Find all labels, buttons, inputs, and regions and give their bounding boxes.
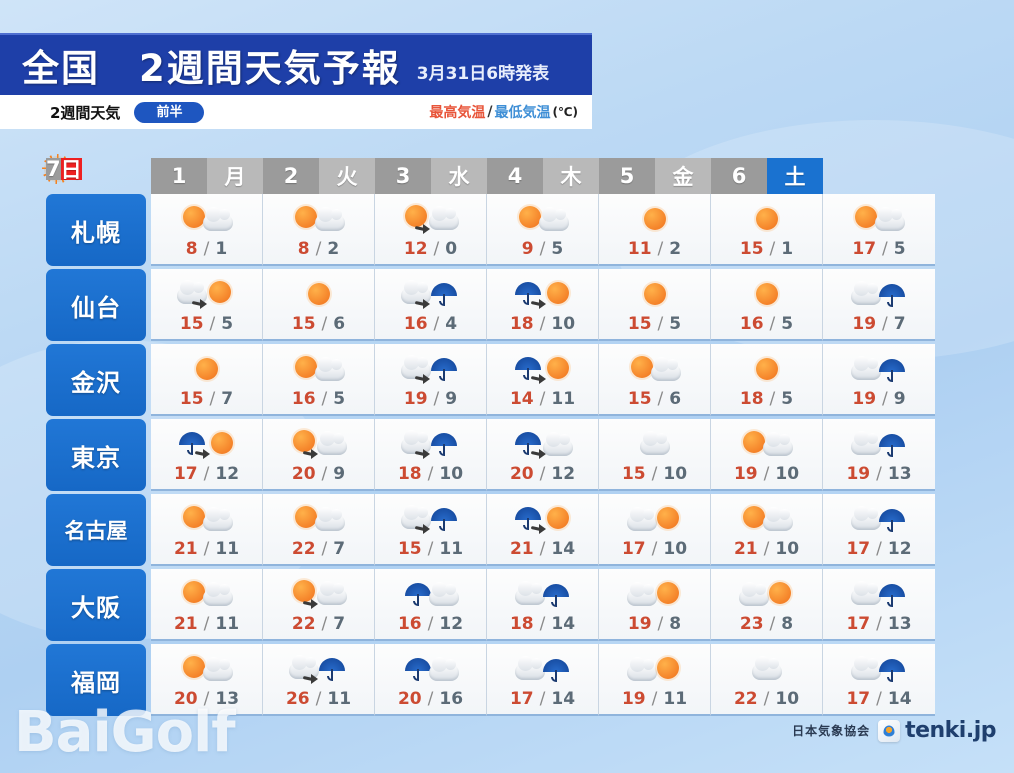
max-temp: 16 <box>404 314 428 334</box>
day-header-cell[interactable]: 5金 <box>599 158 711 194</box>
max-temp: 15 <box>628 314 652 334</box>
temp-separator: / <box>876 614 882 634</box>
max-temp: 16 <box>398 614 422 634</box>
rain-then-sun-icon <box>513 275 573 313</box>
temp-separator: / <box>204 539 210 559</box>
day-of-week: 月 <box>207 158 263 194</box>
day-header-cell[interactable]: 1月 <box>151 158 263 194</box>
rain-then-sun-icon <box>513 350 573 388</box>
weather-icon-area <box>513 574 573 614</box>
max-temp: 19 <box>852 389 876 409</box>
min-temp: 2 <box>669 239 681 259</box>
day-of-week: 火 <box>319 158 375 194</box>
weather-icon-area <box>513 274 573 314</box>
forecast-cell[interactable]: 12/0 <box>375 194 487 266</box>
temperature-pair: 18/5 <box>740 389 793 409</box>
weather-icon-area <box>401 199 461 239</box>
cloud-sun-icon <box>625 500 685 538</box>
forecast-cell[interactable]: 23/8 <box>711 569 823 641</box>
temperature-pair: 20/16 <box>398 689 463 709</box>
sun-icon <box>737 200 797 238</box>
sun-cloud-icon <box>625 350 685 388</box>
day-of-week: 水 <box>431 158 487 194</box>
temp-separator: / <box>428 539 434 559</box>
city-label-1[interactable]: 仙台 <box>46 269 146 341</box>
forecast-cell[interactable]: 20/9 <box>263 419 375 491</box>
max-temp: 15 <box>180 314 204 334</box>
max-temp: 11 <box>628 239 652 259</box>
sun-cloud-icon <box>177 500 237 538</box>
sun-icon <box>737 350 797 388</box>
temperature-pair: 15/1 <box>740 239 793 259</box>
weather-icon-area <box>289 499 349 539</box>
sun-icon <box>625 200 685 238</box>
temp-separator: / <box>428 464 434 484</box>
legend-separator: / <box>487 104 492 120</box>
temperature-pair: 16/4 <box>404 314 457 334</box>
temperature-pair: 16/12 <box>398 614 463 634</box>
temperature-pair: 23/8 <box>740 614 793 634</box>
day-header-cell[interactable]: 4木 <box>487 158 599 194</box>
day-header-cell[interactable]: 2火 <box>263 158 375 194</box>
min-temp: 14 <box>551 614 575 634</box>
temp-separator: / <box>434 389 440 409</box>
temp-separator: / <box>322 314 328 334</box>
temp-separator: / <box>322 614 328 634</box>
max-temp: 15 <box>398 539 422 559</box>
sun-then-cloud-icon <box>289 425 349 463</box>
cloud-rain-icon <box>849 275 909 313</box>
min-temp: 7 <box>221 389 233 409</box>
day-header-row: 1月2火3水4木5金6土7日 <box>46 158 979 194</box>
max-temp: 21 <box>174 539 198 559</box>
day-of-week: 木 <box>543 158 599 194</box>
forecast-cell[interactable]: 17/14 <box>823 644 935 716</box>
sun-cloud-icon <box>177 650 237 688</box>
forecast-cell[interactable]: 15/5 <box>599 269 711 341</box>
min-temp: 5 <box>221 314 233 334</box>
tenki-logo[interactable]: tenki.jp <box>878 718 996 743</box>
forecast-cell[interactable]: 9/5 <box>487 194 599 266</box>
temp-separator: / <box>322 539 328 559</box>
forecast-cell[interactable]: 17/14 <box>487 644 599 716</box>
min-temp: 14 <box>888 689 912 709</box>
forecast-cell[interactable]: 15/10 <box>599 419 711 491</box>
forecast-cell[interactable]: 20/16 <box>375 644 487 716</box>
max-temp: 19 <box>734 464 758 484</box>
min-temp: 8 <box>781 614 793 634</box>
temperature-pair: 8/1 <box>186 239 227 259</box>
max-temp: 19 <box>852 314 876 334</box>
weather-icon-area <box>737 649 797 689</box>
min-temp: 14 <box>551 539 575 559</box>
forecast-cell[interactable]: 19/9 <box>375 344 487 416</box>
weather-icon-area <box>177 274 237 314</box>
min-temp: 0 <box>445 239 457 259</box>
city-label-5[interactable]: 大阪 <box>46 569 146 641</box>
max-temp: 17 <box>846 614 870 634</box>
city-label-4[interactable]: 名古屋 <box>46 494 146 566</box>
weather-icon-area <box>289 574 349 614</box>
min-temp: 7 <box>894 314 906 334</box>
day-number: 7 <box>46 158 61 180</box>
sun-cloud-icon <box>289 200 349 238</box>
temperature-pair: 15/10 <box>622 464 687 484</box>
cloud-rain-icon <box>849 650 909 688</box>
cloud-then-rain-icon <box>401 350 461 388</box>
min-temp: 2 <box>327 239 339 259</box>
sun-then-cloud-icon <box>289 575 349 613</box>
temp-separator: / <box>652 689 658 709</box>
max-temp: 17 <box>174 464 198 484</box>
sun-icon <box>737 275 797 313</box>
max-temp: 21 <box>734 539 758 559</box>
forecast-rows: 札幌8/18/212/09/511/215/117/5仙台15/515/616/… <box>46 194 979 716</box>
forecast-cell[interactable]: 14/11 <box>487 344 599 416</box>
forecast-cell[interactable]: 18/10 <box>375 419 487 491</box>
max-temp: 15 <box>180 389 204 409</box>
city-label-3[interactable]: 東京 <box>46 419 146 491</box>
max-temp: 12 <box>404 239 428 259</box>
temp-separator: / <box>540 389 546 409</box>
forecast-cell[interactable]: 21/14 <box>487 494 599 566</box>
temp-separator: / <box>540 464 546 484</box>
min-temp: 6 <box>669 389 681 409</box>
min-temp: 8 <box>669 614 681 634</box>
forecast-cell[interactable]: 22/7 <box>263 569 375 641</box>
max-temp: 8 <box>298 239 310 259</box>
forecast-cell[interactable]: 15/6 <box>599 344 711 416</box>
temperature-pair: 26/11 <box>286 689 351 709</box>
temp-separator: / <box>210 389 216 409</box>
temperature-pair: 9/5 <box>522 239 563 259</box>
watermark: BaiGolf <box>14 700 235 765</box>
max-temp: 19 <box>622 689 646 709</box>
temperature-pair: 19/7 <box>852 314 905 334</box>
min-temp: 7 <box>333 539 345 559</box>
day-number: 6 <box>711 158 767 194</box>
min-temp: 7 <box>333 614 345 634</box>
min-temp: 12 <box>888 539 912 559</box>
temperature-pair: 19/8 <box>628 614 681 634</box>
min-temp: 10 <box>775 539 799 559</box>
forecast-cell[interactable]: 15/1 <box>711 194 823 266</box>
temperature-pair: 18/14 <box>510 614 575 634</box>
weather-icon-area <box>401 574 461 614</box>
forecast-cell[interactable]: 19/9 <box>823 344 935 416</box>
weather-icon-area <box>737 499 797 539</box>
max-temp: 14 <box>510 389 534 409</box>
forecast-cell[interactable]: 17/13 <box>823 569 935 641</box>
forecast-cell[interactable]: 17/12 <box>823 494 935 566</box>
forecast-cell[interactable]: 16/5 <box>263 344 375 416</box>
temp-separator: / <box>204 239 210 259</box>
min-temp: 1 <box>781 239 793 259</box>
min-temp: 11 <box>551 389 575 409</box>
forecast-cell[interactable]: 16/4 <box>375 269 487 341</box>
temp-separator: / <box>764 689 770 709</box>
temperature-legend: 最高気温 / 最低気温 (℃) <box>429 102 578 122</box>
forecast-cell[interactable]: 26/11 <box>263 644 375 716</box>
forecast-cell[interactable]: 19/10 <box>711 419 823 491</box>
temperature-pair: 15/7 <box>180 389 233 409</box>
weather-icon-area <box>849 349 909 389</box>
weather-icon-area <box>289 199 349 239</box>
title-bar: 全国 2週間天気予報 3月31日6時発表 <box>0 33 592 95</box>
announcement-time: 3月31日6時発表 <box>417 47 549 84</box>
max-temp: 15 <box>740 239 764 259</box>
max-temp: 16 <box>740 314 764 334</box>
temperature-pair: 17/14 <box>846 689 911 709</box>
temp-separator: / <box>764 464 770 484</box>
temp-separator: / <box>658 239 664 259</box>
rain-then-sun-icon <box>513 500 573 538</box>
temperature-pair: 20/12 <box>510 464 575 484</box>
weather-icon-area <box>625 274 685 314</box>
rain-cloud-icon <box>401 650 461 688</box>
min-temp: 6 <box>333 314 345 334</box>
max-temp: 20 <box>510 464 534 484</box>
temp-separator: / <box>316 239 322 259</box>
temperature-pair: 19/13 <box>846 464 911 484</box>
half-period-tab[interactable]: 前半 <box>134 102 204 123</box>
temp-separator: / <box>652 464 658 484</box>
max-temp: 22 <box>292 539 316 559</box>
temp-separator: / <box>652 539 658 559</box>
legend-unit: (℃) <box>553 105 579 119</box>
temperature-pair: 17/12 <box>846 539 911 559</box>
forecast-cell[interactable]: 11/2 <box>599 194 711 266</box>
temperature-pair: 15/6 <box>628 389 681 409</box>
legend-low-label: 最低気温 <box>495 102 551 122</box>
sun-cloud-icon <box>737 500 797 538</box>
cloud-then-sun-icon <box>177 275 237 313</box>
min-temp: 10 <box>551 314 575 334</box>
forecast-row: 札幌8/18/212/09/511/215/117/5 <box>46 194 979 266</box>
weather-icon-area <box>625 574 685 614</box>
weather-icon-area <box>625 649 685 689</box>
temp-separator: / <box>428 614 434 634</box>
temp-separator: / <box>770 389 776 409</box>
min-temp: 11 <box>215 539 239 559</box>
weather-icon-area <box>401 349 461 389</box>
association-label: 日本気象協会 <box>792 722 870 739</box>
forecast-cell[interactable]: 19/7 <box>823 269 935 341</box>
forecast-cell[interactable]: 15/11 <box>375 494 487 566</box>
max-temp: 18 <box>740 389 764 409</box>
min-temp: 10 <box>663 539 687 559</box>
min-temp: 12 <box>551 464 575 484</box>
city-label-2[interactable]: 金沢 <box>46 344 146 416</box>
max-temp: 17 <box>622 539 646 559</box>
sun-cloud-icon <box>177 575 237 613</box>
cloud-sun-icon <box>737 575 797 613</box>
temp-separator: / <box>876 539 882 559</box>
weather-icon-area <box>177 499 237 539</box>
weather-icon-area <box>177 649 237 689</box>
weather-icon-area <box>513 199 573 239</box>
weather-icon-area <box>401 274 461 314</box>
cloud-then-rain-icon <box>401 275 461 313</box>
max-temp: 21 <box>174 614 198 634</box>
forecast-cell[interactable]: 22/7 <box>263 494 375 566</box>
min-temp: 9 <box>445 389 457 409</box>
footer: 日本気象協会 tenki.jp <box>792 718 996 743</box>
cloud-sun-icon <box>625 650 685 688</box>
temp-separator: / <box>540 239 546 259</box>
min-temp: 11 <box>663 689 687 709</box>
rain-cloud-icon <box>401 575 461 613</box>
cloud-rain-icon <box>849 350 909 388</box>
temperature-pair: 17/13 <box>846 614 911 634</box>
day-of-week: 日 <box>61 158 82 180</box>
forecast-cell[interactable]: 21/11 <box>151 569 263 641</box>
max-temp: 19 <box>404 389 428 409</box>
weather-icon-area <box>737 349 797 389</box>
max-temp: 17 <box>510 689 534 709</box>
weather-icon-area <box>625 499 685 539</box>
forecast-cell[interactable]: 15/6 <box>263 269 375 341</box>
forecast-row: 仙台15/515/616/418/1015/516/519/7 <box>46 269 979 341</box>
min-temp: 1 <box>215 239 227 259</box>
weather-icon-area <box>849 499 909 539</box>
day-header-cell[interactable]: 3水 <box>375 158 487 194</box>
min-temp: 5 <box>894 239 906 259</box>
temperature-pair: 15/5 <box>628 314 681 334</box>
max-temp: 17 <box>846 689 870 709</box>
weather-icon-area <box>737 199 797 239</box>
weather-icon-area <box>289 424 349 464</box>
max-temp: 15 <box>622 464 646 484</box>
temperature-pair: 22/7 <box>292 614 345 634</box>
day-of-week: 土 <box>767 158 823 194</box>
forecast-cell[interactable]: 15/7 <box>151 344 263 416</box>
temperature-pair: 15/5 <box>180 314 233 334</box>
temperature-pair: 17/5 <box>852 239 905 259</box>
temperature-pair: 18/10 <box>398 464 463 484</box>
temp-separator: / <box>540 314 546 334</box>
day-header-cell[interactable]: 6土 <box>711 158 823 194</box>
temperature-pair: 16/5 <box>292 389 345 409</box>
forecast-cell[interactable]: 18/10 <box>487 269 599 341</box>
temp-separator: / <box>322 464 328 484</box>
forecast-cell[interactable]: 8/1 <box>151 194 263 266</box>
weather-icon-area <box>289 274 349 314</box>
forecast-cell[interactable]: 17/10 <box>599 494 711 566</box>
cloud-icon <box>625 425 685 463</box>
day-number: 4 <box>487 158 543 194</box>
temperature-pair: 21/14 <box>510 539 575 559</box>
temp-separator: / <box>204 614 210 634</box>
day-number: 5 <box>599 158 655 194</box>
temp-separator: / <box>770 239 776 259</box>
forecast-cell[interactable]: 20/12 <box>487 419 599 491</box>
min-temp: 10 <box>775 689 799 709</box>
forecast-cell[interactable]: 21/11 <box>151 494 263 566</box>
weather-icon-area <box>177 349 237 389</box>
temp-separator: / <box>316 689 322 709</box>
forecast-cell[interactable]: 18/14 <box>487 569 599 641</box>
cloud-then-rain-icon <box>401 425 461 463</box>
min-temp: 11 <box>439 539 463 559</box>
temp-separator: / <box>434 314 440 334</box>
cloud-then-rain-icon <box>289 650 349 688</box>
forecast-cell[interactable]: 16/5 <box>711 269 823 341</box>
cloud-rain-icon <box>513 650 573 688</box>
temperature-pair: 14/11 <box>510 389 575 409</box>
max-temp: 15 <box>292 314 316 334</box>
forecast-cell[interactable]: 19/13 <box>823 419 935 491</box>
weather-icon-area <box>177 574 237 614</box>
temp-separator: / <box>876 689 882 709</box>
min-temp: 10 <box>439 464 463 484</box>
sun-cloud-icon <box>177 200 237 238</box>
forecast-cell[interactable]: 16/12 <box>375 569 487 641</box>
forecast-cell[interactable]: 19/8 <box>599 569 711 641</box>
temp-separator: / <box>882 389 888 409</box>
weather-icon-area <box>737 274 797 314</box>
cloud-sun-icon <box>625 575 685 613</box>
temp-separator: / <box>210 314 216 334</box>
forecast-cell[interactable]: 17/5 <box>823 194 935 266</box>
day-number: 3 <box>375 158 431 194</box>
forecast-cell[interactable]: 17/12 <box>151 419 263 491</box>
weather-icon-area <box>737 574 797 614</box>
forecast-cell[interactable]: 15/5 <box>151 269 263 341</box>
temperature-pair: 21/11 <box>174 614 239 634</box>
weather-icon-area <box>849 199 909 239</box>
cloud-then-rain-icon <box>401 500 461 538</box>
forecast-cell[interactable]: 21/10 <box>711 494 823 566</box>
forecast-cell[interactable]: 22/10 <box>711 644 823 716</box>
temp-separator: / <box>322 389 328 409</box>
forecast-row: 金沢15/716/519/914/1115/618/519/9 <box>46 344 979 416</box>
page-title: 全国 2週間天気予報 <box>22 38 401 92</box>
min-temp: 5 <box>781 389 793 409</box>
max-temp: 18 <box>398 464 422 484</box>
forecast-cell[interactable]: 8/2 <box>263 194 375 266</box>
header: 全国 2週間天気予報 3月31日6時発表 2週間天気 前半 最高気温 / 最低気… <box>0 33 592 129</box>
min-temp: 5 <box>669 314 681 334</box>
temp-separator: / <box>540 614 546 634</box>
weather-icon-area <box>289 349 349 389</box>
rain-then-cloud-icon <box>513 425 573 463</box>
min-temp: 16 <box>439 689 463 709</box>
max-temp: 18 <box>510 314 534 334</box>
temperature-pair: 21/11 <box>174 539 239 559</box>
sun-cloud-icon <box>513 200 573 238</box>
sun-icon <box>289 275 349 313</box>
temp-separator: / <box>764 539 770 559</box>
sun-icon <box>625 275 685 313</box>
weather-icon-area <box>625 424 685 464</box>
temperature-pair: 17/12 <box>174 464 239 484</box>
temperature-pair: 22/10 <box>734 689 799 709</box>
temp-separator: / <box>658 314 664 334</box>
max-temp: 15 <box>628 389 652 409</box>
temperature-pair: 19/9 <box>852 389 905 409</box>
day-header-cell[interactable]: 7日 <box>46 158 68 180</box>
max-temp: 8 <box>186 239 198 259</box>
forecast-cell[interactable]: 18/5 <box>711 344 823 416</box>
min-temp: 9 <box>333 464 345 484</box>
weather-icon-area <box>625 199 685 239</box>
max-temp: 19 <box>846 464 870 484</box>
tenki-logo-text: tenki.jp <box>905 718 996 743</box>
temp-separator: / <box>882 239 888 259</box>
city-label-0[interactable]: 札幌 <box>46 194 146 266</box>
forecast-cell[interactable]: 19/11 <box>599 644 711 716</box>
